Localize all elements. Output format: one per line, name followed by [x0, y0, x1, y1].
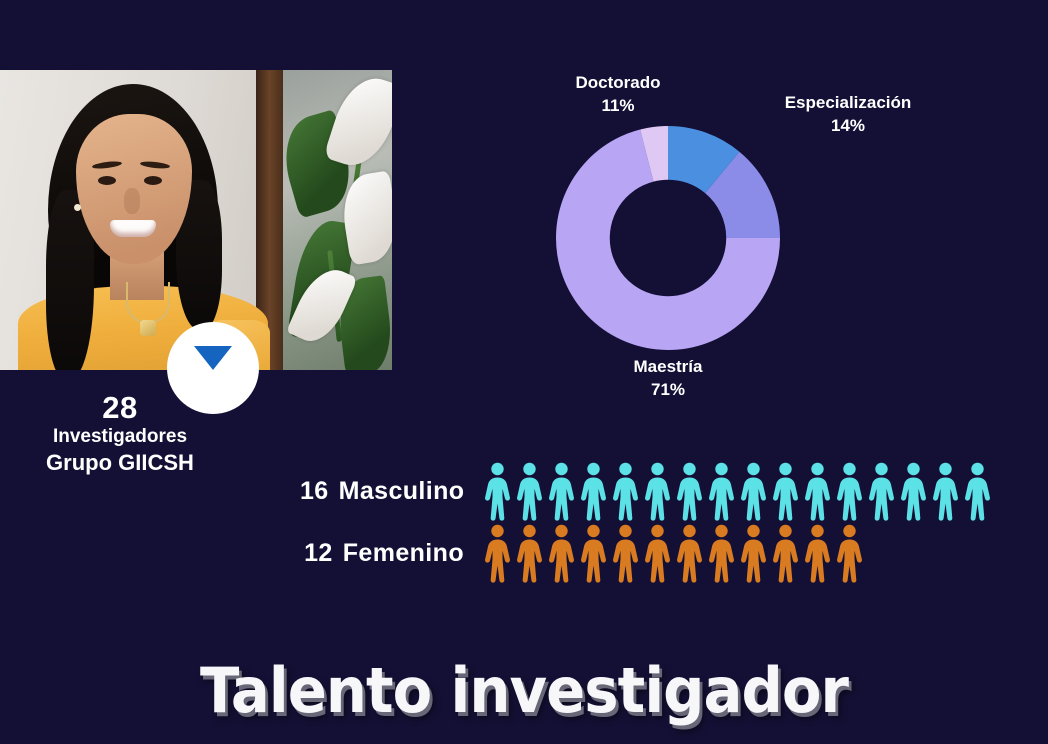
chart-label-maestria-name: Maestría: [634, 357, 703, 376]
pictogram-person-masculino: [514, 461, 545, 521]
pictogram-person-masculino: [770, 461, 801, 521]
gender-count-femenino: 12: [304, 539, 333, 567]
pictogram-person-masculino: [962, 461, 993, 521]
pictogram-person-masculino: [674, 461, 705, 521]
person-earring: [74, 204, 81, 211]
donut-slices: [556, 126, 780, 350]
person-eye: [98, 176, 116, 185]
infographic-slide: 28 Investigadores Grupo GIICSH Doctorado…: [0, 0, 1048, 744]
researcher-count-block: 28 Investigadores Grupo GIICSH: [0, 392, 240, 479]
pictogram-person-masculino: [930, 461, 961, 521]
gender-count-masculino: 16: [300, 477, 329, 505]
chart-label-doctorado-name: Doctorado: [576, 73, 661, 92]
pictogram-person-masculino: [834, 461, 865, 521]
pictogram-person-femenino: [706, 523, 737, 583]
gender-name-femenino: Femenino: [343, 539, 464, 567]
pictogram-person-femenino: [642, 523, 673, 583]
pictogram-person-femenino: [578, 523, 609, 583]
pictogram-person-masculino: [482, 461, 513, 521]
person-nose: [124, 188, 140, 214]
stat-caption: Investigadores: [0, 425, 240, 449]
pictogram-person-masculino: [706, 461, 737, 521]
chart-label-especializacion-value: 14%: [831, 116, 865, 135]
donut-svg: [556, 126, 780, 350]
education-level-donut-chart: [556, 126, 780, 350]
stat-number: 28: [0, 392, 240, 425]
gender-row-femenino: 12Femenino: [300, 522, 1020, 584]
person-pendant: [140, 320, 156, 336]
chart-label-maestria-value: 71%: [651, 380, 685, 399]
stat-group-name: Grupo GIICSH: [0, 448, 240, 479]
person-smile: [110, 220, 156, 237]
gender-name-masculino: Masculino: [339, 477, 465, 505]
gender-label-masculino: 16Masculino: [300, 477, 482, 506]
pictogram-person-masculino: [642, 461, 673, 521]
pictogram-person-masculino: [578, 461, 609, 521]
pictogram-person-masculino: [898, 461, 929, 521]
pictogram-person-femenino: [738, 523, 769, 583]
triangle-down-glyph: [194, 346, 232, 370]
pictogram-person-femenino: [546, 523, 577, 583]
pictogram-person-masculino: [546, 461, 577, 521]
pictogram-row-masculino: [482, 461, 993, 521]
pictogram-person-femenino: [482, 523, 513, 583]
chart-label-especializacion-name: Especialización: [785, 93, 912, 112]
gender-label-femenino: 12Femenino: [300, 539, 482, 568]
pictogram-person-masculino: [802, 461, 833, 521]
slide-title: Talento investigador: [37, 654, 1012, 727]
person-necklace: [126, 282, 170, 324]
pictogram-person-femenino: [802, 523, 833, 583]
pictogram-person-masculino: [866, 461, 897, 521]
pictogram-person-masculino: [610, 461, 641, 521]
gender-breakdown: 16Masculino 12Femenino: [300, 460, 1020, 584]
pictogram-row-femenino: [482, 523, 865, 583]
pictogram-person-femenino: [770, 523, 801, 583]
gender-row-masculino: 16Masculino: [300, 460, 1020, 522]
pictogram-person-femenino: [834, 523, 865, 583]
person-eye: [144, 176, 162, 185]
pictogram-person-masculino: [738, 461, 769, 521]
chart-label-especializacion: Especialización 14%: [718, 92, 978, 138]
chart-label-doctorado-value: 11%: [601, 96, 634, 115]
pictogram-person-femenino: [610, 523, 641, 583]
pictogram-person-femenino: [514, 523, 545, 583]
chart-label-doctorado: Doctorado 11%: [498, 72, 738, 118]
chart-label-maestria: Maestría 71%: [548, 356, 788, 402]
pictogram-person-femenino: [674, 523, 705, 583]
